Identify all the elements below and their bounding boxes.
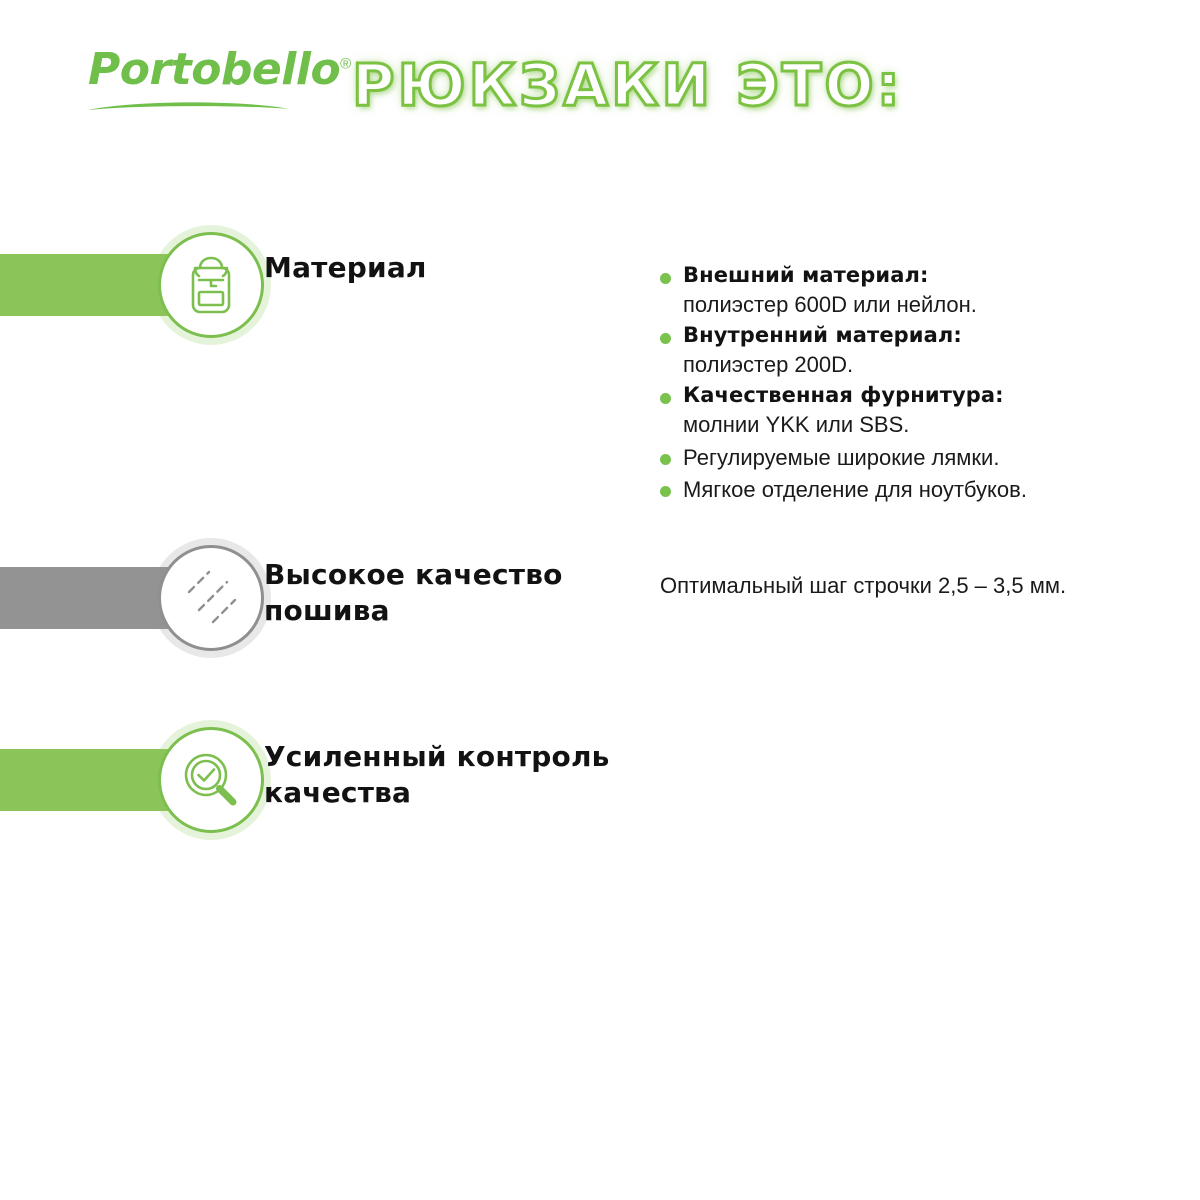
sewing-content: Оптимальный шаг строчки 2,5 – 3,5 мм. [655,571,1165,601]
row-title-quality-control: Усиленный контроль качества [264,739,644,811]
row-title-line-1: Высокое качество [264,558,563,591]
list-item: Регулируемые широкие лямки. [655,443,1165,472]
bullet-normal: молнии YKK или SBS. [683,410,1165,439]
bullet-normal: Регулируемые широкие лямки. [683,443,1165,472]
swoosh-icon [86,98,292,112]
page-title-text: РЮКЗАКИ ЭТО: [352,56,903,114]
page-title: РЮКЗАКИ ЭТО: [352,42,903,128]
infographic-page: Portobello® РЮКЗАКИ ЭТО: Материал [0,0,1200,1200]
list-item: Внутренний материал: полиэстер 200D. [655,322,1165,379]
list-item: Качественная фурнитура: молнии YKK или S… [655,382,1165,439]
list-item: Мягкое отделение для ноутбуков. [655,475,1165,504]
row-title-material: Материал [264,250,644,286]
page-header: Portobello® РЮКЗАКИ ЭТО: [0,0,1200,160]
row-icon-badge-material [158,232,264,338]
row-title-sewing: Высокое качество пошива [264,557,644,629]
brand-logo: Portobello® [88,48,298,118]
material-content: Внешний материал: полиэстер 600D или ней… [655,262,1165,507]
bullet-normal: полиэстер 600D или нейлон. [683,290,1165,319]
row-title-line-1: Усиленный контроль [264,740,610,773]
row-title-line-2: пошива [264,594,390,627]
row-icon-badge-sewing [158,545,264,651]
brand-name: Portobello® [88,48,298,92]
sewing-note-text: Оптимальный шаг строчки 2,5 – 3,5 мм. [655,571,1165,601]
list-item: Внешний материал: полиэстер 600D или ней… [655,262,1165,319]
bullet-strong: Качественная фурнитура: [683,382,1165,410]
bullet-normal: Мягкое отделение для ноутбуков. [683,475,1165,504]
registered-mark-icon: ® [340,55,351,72]
stitching-icon [183,570,239,626]
material-bullet-list: Внешний материал: полиэстер 600D или ней… [655,262,1165,504]
backpack-icon [184,256,238,314]
magnifier-check-icon [182,751,240,809]
bullet-strong: Внутренний материал: [683,322,1165,350]
row-title-line-2: качества [264,776,411,809]
bullet-strong: Внешний материал: [683,262,1165,290]
row-icon-badge-quality-control [158,727,264,833]
brand-name-text: Portobello [88,44,340,95]
bullet-normal: полиэстер 200D. [683,350,1165,379]
